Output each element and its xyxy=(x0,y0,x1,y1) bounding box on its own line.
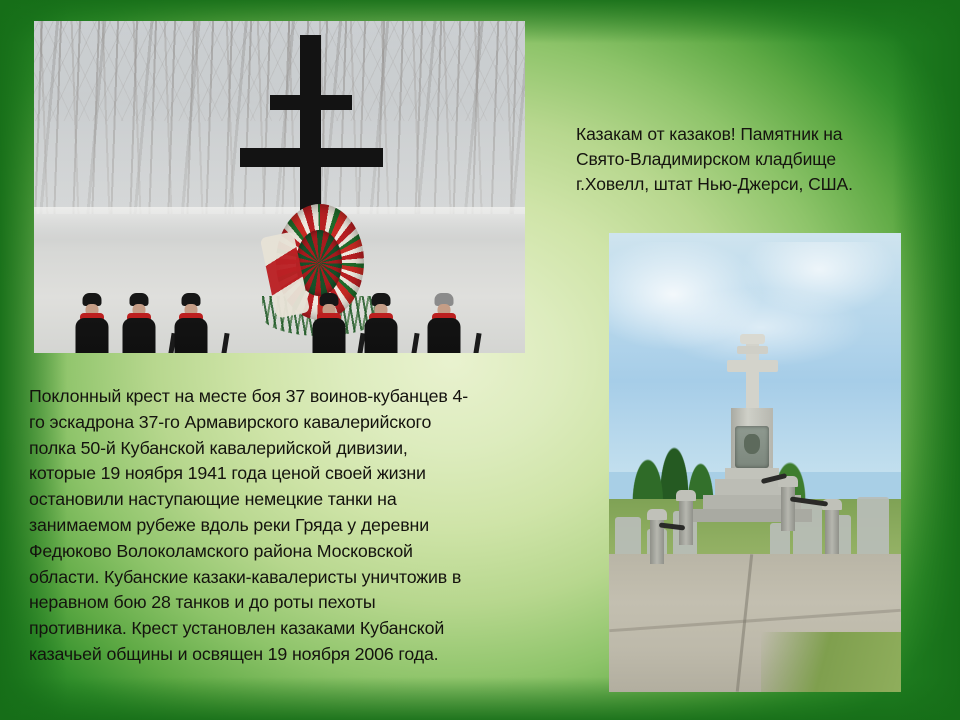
photo-memorial-cross-winter xyxy=(34,21,525,353)
stone-monument xyxy=(708,334,796,609)
monument-emblem xyxy=(744,434,760,454)
cross-crown xyxy=(740,334,765,344)
caption-right-monument: Казакам от казаков! Памятник на Свято-Вл… xyxy=(576,122,916,197)
black-greatcoat xyxy=(123,318,156,353)
slide-canvas: Казакам от казаков! Памятник на Свято-Вл… xyxy=(0,0,960,720)
black-greatcoat xyxy=(428,318,461,353)
chain-post xyxy=(781,485,795,531)
chain-post xyxy=(825,508,839,554)
cross-upper-bar xyxy=(737,346,768,354)
foreground-grass xyxy=(761,632,901,692)
stone-orthodox-cross-icon xyxy=(723,334,781,412)
photo-cemetery-monument xyxy=(609,233,901,692)
caption-left-memorial: Поклонный крест на месте боя 37 воинов-к… xyxy=(29,384,549,668)
black-greatcoat xyxy=(365,318,398,353)
cross-main-bar xyxy=(727,360,778,372)
black-greatcoat xyxy=(76,318,109,353)
chain-post xyxy=(679,499,693,545)
black-greatcoat xyxy=(175,318,208,353)
black-greatcoat xyxy=(313,318,346,353)
